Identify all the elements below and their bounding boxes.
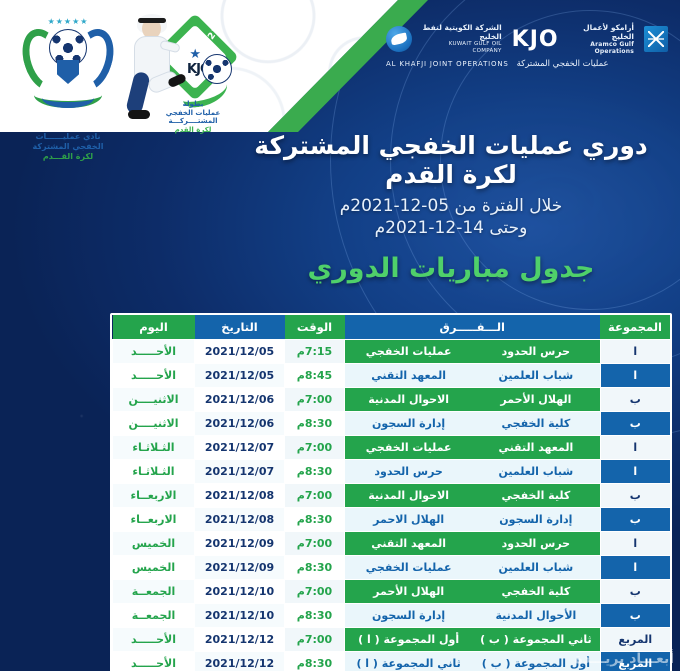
column-header-time: الوقت: [285, 315, 345, 339]
tournament-logo: 2021 ★ KJO بطولة عمليات الخفجي المشتــــ…: [118, 12, 230, 128]
cell-group: المربع: [600, 627, 670, 651]
tournament-caption-line4: لكرة القدم: [156, 126, 230, 134]
column-header-group: المجموعة: [600, 315, 670, 339]
cell-team_b: حرس الحدود: [472, 531, 600, 555]
cell-team_a: عمليات الخفجي: [345, 435, 473, 459]
aramco-gulf-operations-text: أرامكو لأعمال الخليج Aramco Gulf Operati…: [569, 23, 634, 55]
cell-team_b: ثاني المجموعة ( ب ): [472, 627, 600, 651]
cell-day: الأحـــــد: [113, 363, 195, 387]
cell-team_a: المعهد التقني: [345, 531, 473, 555]
cell-time: 8:30م: [285, 651, 345, 671]
cell-date: 2021/12/12: [195, 651, 285, 671]
cell-date: 2021/12/07: [195, 459, 285, 483]
tournament-caption-line2: عمليات الخفجي: [156, 109, 230, 117]
cell-day: الجمعــة: [113, 603, 195, 627]
table-row: المربعأول المجموعة ( ب )ثاني المجموعة ( …: [113, 651, 671, 671]
column-header-date: التاريخ: [195, 315, 285, 339]
table-row: بإدارة السجونالهلال الاحمر8:30م2021/12/0…: [113, 507, 671, 531]
table-body: احرس الحدودعمليات الخفجي7:15م2021/12/05ا…: [113, 339, 671, 671]
cell-date: 2021/12/05: [195, 363, 285, 387]
cell-date: 2021/12/09: [195, 555, 285, 579]
kgoc-arabic: الشركة الكويتية لنفط الخليج: [422, 24, 502, 41]
player-leg-back: [125, 71, 151, 116]
cell-team_a: المعهد التقني: [345, 363, 473, 387]
cell-time: 8:30م: [285, 507, 345, 531]
aramco-star-icon: [644, 26, 668, 52]
table-header-row: المجموعة الـــفـــــرق الوقت التاريخ الي…: [113, 315, 671, 339]
cell-date: 2021/12/10: [195, 579, 285, 603]
cell-day: الاثنيــــن: [113, 387, 195, 411]
cell-team_b: شباب العلمين: [472, 555, 600, 579]
cell-time: 7:00م: [285, 627, 345, 651]
date-range-line2: وحتى 14-12-2021م: [236, 218, 666, 240]
table-row: االمعهد التقنيعمليات الخفجي7:00م2021/12/…: [113, 435, 671, 459]
cell-team_b: المعهد التقني: [472, 435, 600, 459]
cell-group: ب: [600, 411, 670, 435]
cell-day: الاربعــاء: [113, 483, 195, 507]
cell-day: الاربعــاء: [113, 507, 195, 531]
cell-day: الجمعــة: [113, 579, 195, 603]
cell-time: 8:30م: [285, 555, 345, 579]
joint-english: AL KHAFJI JOINT OPERATIONS: [386, 60, 509, 68]
cell-date: 2021/12/06: [195, 387, 285, 411]
cell-team_a: إدارة السجون: [345, 411, 473, 435]
fixtures-table-container: المجموعة الـــفـــــرق الوقت التاريخ الي…: [110, 313, 672, 671]
kgoc-text: الشركة الكويتية لنفط الخليج KUWAIT GULF …: [422, 24, 502, 54]
cell-day: الخميس: [113, 531, 195, 555]
cell-day: الثـلاثـاء: [113, 435, 195, 459]
cell-group: ا: [600, 435, 670, 459]
cell-time: 7:00م: [285, 579, 345, 603]
table-row: بكلية الخفجيالاحوال المدنية7:00م2021/12/…: [113, 483, 671, 507]
club-logo-caption: نادي عمليــــــات الخفجي المشتركة لكرة ا…: [22, 132, 114, 162]
joint-operations-row: عمليات الخفجي المشتركة AL KHAFJI JOINT O…: [386, 59, 668, 69]
cell-team_b: الأحوال المدنية: [472, 603, 600, 627]
cell-day: الأحـــــد: [113, 627, 195, 651]
tournament-logo-caption: بطولة عمليات الخفجي المشتــــركـــة لكرة…: [156, 100, 230, 134]
poster-canvas: ★★★★★ نادي عمليــــــات الخفجي المشتركة …: [0, 0, 680, 671]
cell-group: ا: [600, 531, 670, 555]
cell-date: 2021/12/07: [195, 435, 285, 459]
tournament-caption-line1: بطولة: [156, 100, 230, 108]
cell-group: ب: [600, 507, 670, 531]
cell-time: 8:45م: [285, 363, 345, 387]
club-caption-line3: لكرة القـــدم: [22, 152, 114, 162]
joint-arabic: عمليات الخفجي المشتركة: [517, 59, 609, 69]
title-line1: دوري عمليات الخفجي المشتركة: [236, 132, 666, 161]
cell-date: 2021/12/09: [195, 531, 285, 555]
cell-time: 8:30م: [285, 411, 345, 435]
cell-date: 2021/12/08: [195, 507, 285, 531]
cell-date: 2021/12/06: [195, 411, 285, 435]
cell-team_a: أول المجموعة ( ا ): [345, 627, 473, 651]
cell-team_a: عمليات الخفجي: [345, 339, 473, 363]
cell-time: 7:00م: [285, 435, 345, 459]
table-row: اشباب العلمينعمليات الخفجي8:30م2021/12/0…: [113, 555, 671, 579]
cell-group: المربع: [600, 651, 670, 671]
kjo-wordmark: KJO: [512, 27, 559, 52]
player-shoe-back: [128, 110, 150, 119]
corporate-logo-group: أرامكو لأعمال الخليج Aramco Gulf Operati…: [386, 22, 668, 78]
page-title: دوري عمليات الخفجي المشتركة لكرة القدم: [236, 132, 666, 189]
table-row: بالهلال الأحمرالاحوال المدنية7:00م2021/1…: [113, 387, 671, 411]
cell-team_a: الهلال الأحمر: [345, 579, 473, 603]
kgoc-english: KUWAIT GULF OIL COMPANY: [422, 41, 502, 54]
cell-group: ب: [600, 579, 670, 603]
cell-day: الأحـــــد: [113, 651, 195, 671]
cell-team_b: كلية الخفجي: [472, 483, 600, 507]
tournament-caption-line3: المشتــــركـــة: [156, 117, 230, 125]
cell-team_b: كلية الخفجي: [472, 579, 600, 603]
cell-group: ب: [600, 603, 670, 627]
title-block: دوري عمليات الخفجي المشتركة لكرة القدم خ…: [236, 132, 666, 284]
cell-group: ب: [600, 387, 670, 411]
club-logo: ★★★★★ نادي عمليــــــات الخفجي المشتركة …: [22, 16, 114, 128]
schedule-heading: جدول مباريات الدوري: [236, 253, 666, 284]
cell-team_a: ثاني المجموعة ( ا ): [345, 651, 473, 671]
cell-date: 2021/12/08: [195, 483, 285, 507]
club-caption-line2: الخفجي المشتركة: [22, 142, 114, 152]
cell-team_a: الاحوال المدنية: [345, 483, 473, 507]
cell-team_b: إدارة السجون: [472, 507, 600, 531]
cell-time: 7:00م: [285, 531, 345, 555]
star-icon: ★: [189, 48, 201, 61]
cell-time: 7:00م: [285, 483, 345, 507]
cell-date: 2021/12/10: [195, 603, 285, 627]
cell-group: ا: [600, 339, 670, 363]
agal-icon: [138, 18, 166, 23]
cell-group: ا: [600, 459, 670, 483]
cell-team_a: إدارة السجون: [345, 603, 473, 627]
column-header-day: اليوم: [113, 315, 195, 339]
cell-time: 8:30م: [285, 459, 345, 483]
cell-date: 2021/12/05: [195, 339, 285, 363]
cell-date: 2021/12/12: [195, 627, 285, 651]
cell-team_b: كلية الخفجي: [472, 411, 600, 435]
table-row: بالأحوال المدنيةإدارة السجون8:30م2021/12…: [113, 603, 671, 627]
fixtures-table: المجموعة الـــفـــــرق الوقت التاريخ الي…: [112, 315, 670, 671]
table-row: المربعثاني المجموعة ( ب )أول المجموعة ( …: [113, 627, 671, 651]
table-row: بكلية الخفجيالهلال الأحمر7:00م2021/12/10…: [113, 579, 671, 603]
cell-team_b: حرس الحدود: [472, 339, 600, 363]
table-header: المجموعة الـــفـــــرق الوقت التاريخ الي…: [113, 315, 671, 339]
ago-arabic: أرامكو لأعمال الخليج: [569, 23, 634, 41]
cell-time: 7:00م: [285, 387, 345, 411]
falcon-icon: [386, 26, 412, 52]
cell-team_b: شباب العلمين: [472, 363, 600, 387]
cell-team_a: حرس الحدود: [345, 459, 473, 483]
cell-team_a: الهلال الاحمر: [345, 507, 473, 531]
corporate-logo-row: أرامكو لأعمال الخليج Aramco Gulf Operati…: [386, 22, 668, 56]
table-row: اشباب العلمينحرس الحدود8:30م2021/12/07ال…: [113, 459, 671, 483]
cell-time: 7:15م: [285, 339, 345, 363]
date-range-line1: خلال الفترة من 05-12-2021م: [236, 196, 666, 218]
cell-day: الثـلاثـاء: [113, 459, 195, 483]
table-row: اشباب العلمينالمعهد التقني8:45م2021/12/0…: [113, 363, 671, 387]
cell-team_b: أول المجموعة ( ب ): [472, 651, 600, 671]
cell-team_b: الهلال الأحمر: [472, 387, 600, 411]
cell-group: ب: [600, 483, 670, 507]
table-row: احرس الحدودالمعهد التقني7:00م2021/12/09ا…: [113, 531, 671, 555]
date-range: خلال الفترة من 05-12-2021م وحتى 14-12-20…: [236, 196, 666, 240]
cell-time: 8:30م: [285, 603, 345, 627]
cell-day: الخميس: [113, 555, 195, 579]
cell-group: ا: [600, 363, 670, 387]
column-header-teams: الـــفـــــرق: [345, 315, 601, 339]
stars-icon: ★★★★★: [48, 18, 89, 26]
cell-team_a: الاحوال المدنية: [345, 387, 473, 411]
cell-day: الأحـــــد: [113, 339, 195, 363]
ago-english: Aramco Gulf Operations: [569, 41, 634, 55]
cell-group: ا: [600, 555, 670, 579]
swoosh-blue-icon: [42, 88, 94, 108]
title-line2: لكرة القدم: [236, 161, 666, 190]
cell-day: الاثنيــــن: [113, 411, 195, 435]
club-caption-line1: نادي عمليــــــات: [22, 132, 114, 142]
cell-team_b: شباب العلمين: [472, 459, 600, 483]
table-row: احرس الحدودعمليات الخفجي7:15م2021/12/05ا…: [113, 339, 671, 363]
table-row: بكلية الخفجيإدارة السجون8:30م2021/12/06ا…: [113, 411, 671, 435]
cell-team_a: عمليات الخفجي: [345, 555, 473, 579]
